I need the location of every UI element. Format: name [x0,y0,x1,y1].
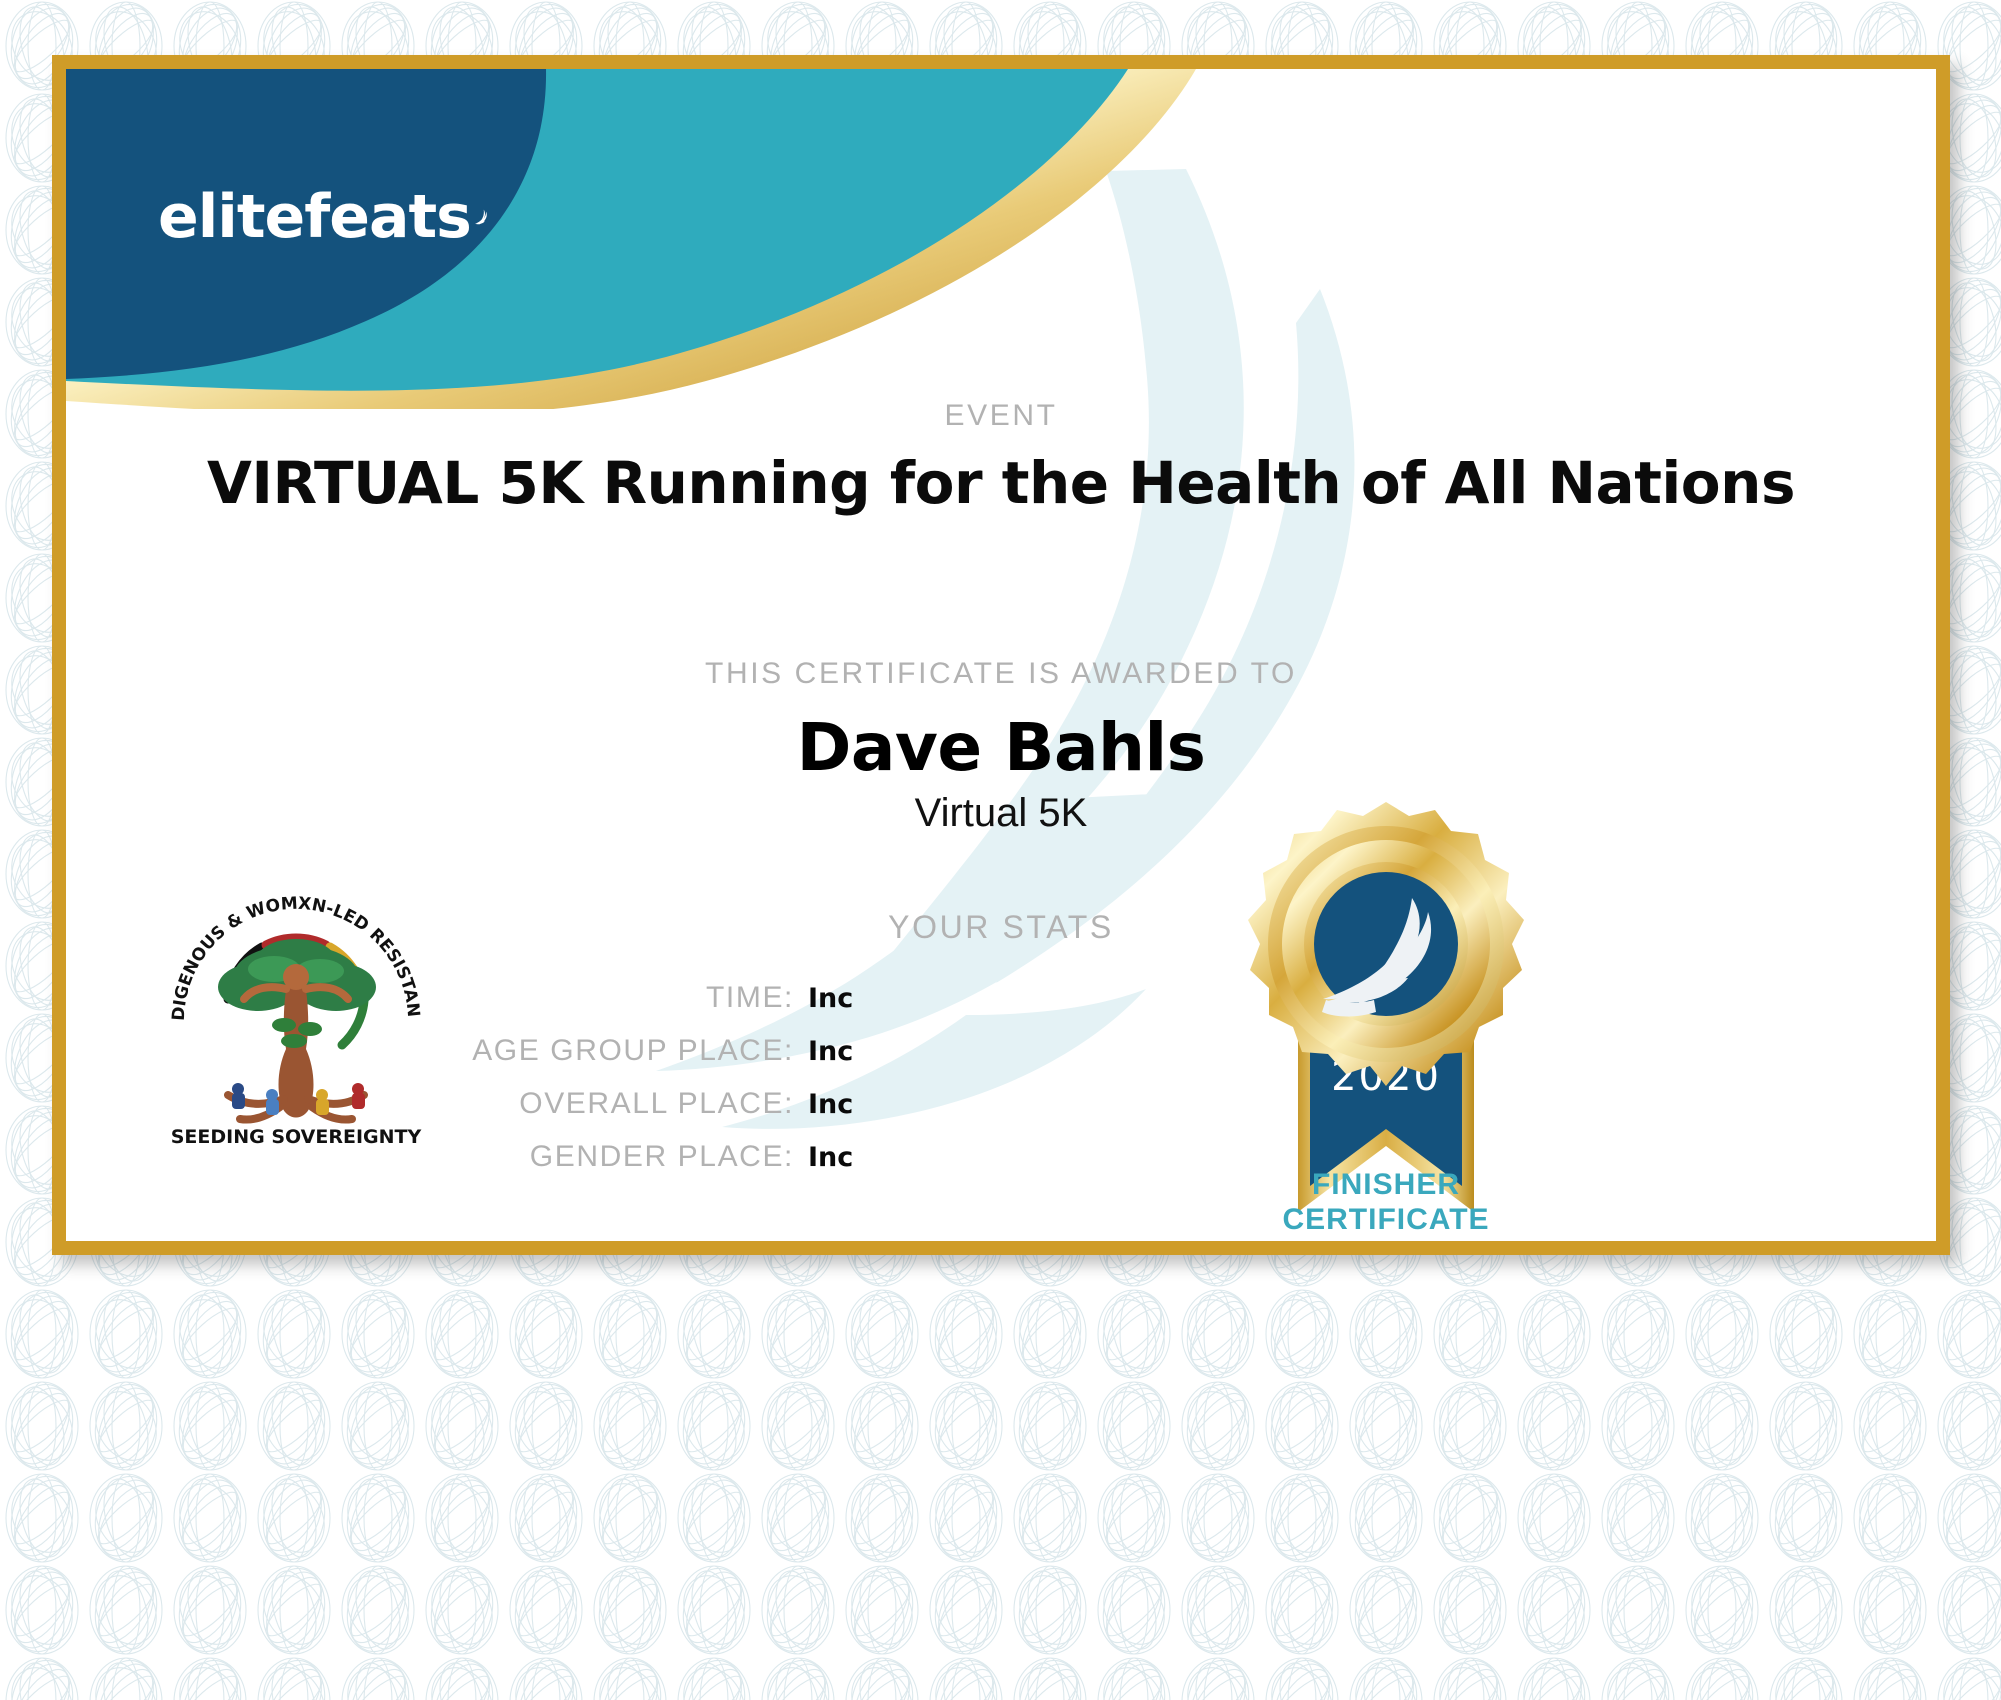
finisher-caption-line2: CERTIFICATE [1206,1202,1566,1237]
stat-value: Inc [808,1036,853,1067]
stat-value: Inc [808,983,853,1014]
recipient-subtitle: Virtual 5K [66,791,1936,836]
recipient-name: Dave Bahls [66,709,1936,786]
event-label: EVENT [66,399,1936,433]
event-title: VIRTUAL 5K Running for the Health of All… [66,449,1936,517]
sponsor-logo-seeding-sovereignty: INDIGENOUS & WOMXN-LED RESISTANCE [166,849,426,1149]
gold-medal-rosette-icon [1248,802,1524,1086]
finisher-caption: FINISHER CERTIFICATE [1206,1167,1566,1238]
finisher-caption-line1: FINISHER [1206,1167,1566,1202]
stat-value: Inc [808,1089,853,1120]
stat-value: Inc [808,1142,853,1173]
certificate-card: elitefeats EVENT VIRTUAL 5K Running for … [52,55,1950,1255]
brand-logo: elitefeats [158,169,488,265]
sponsor-name: SEEDING SOVEREIGNTY [171,1126,422,1148]
winged-foot-icon [475,171,488,263]
awarded-to-label: THIS CERTIFICATE IS AWARDED TO [66,657,1936,691]
certificate-page: elitefeats EVENT VIRTUAL 5K Running for … [0,0,2001,1700]
brand-wordmark: elitefeats [158,187,471,247]
